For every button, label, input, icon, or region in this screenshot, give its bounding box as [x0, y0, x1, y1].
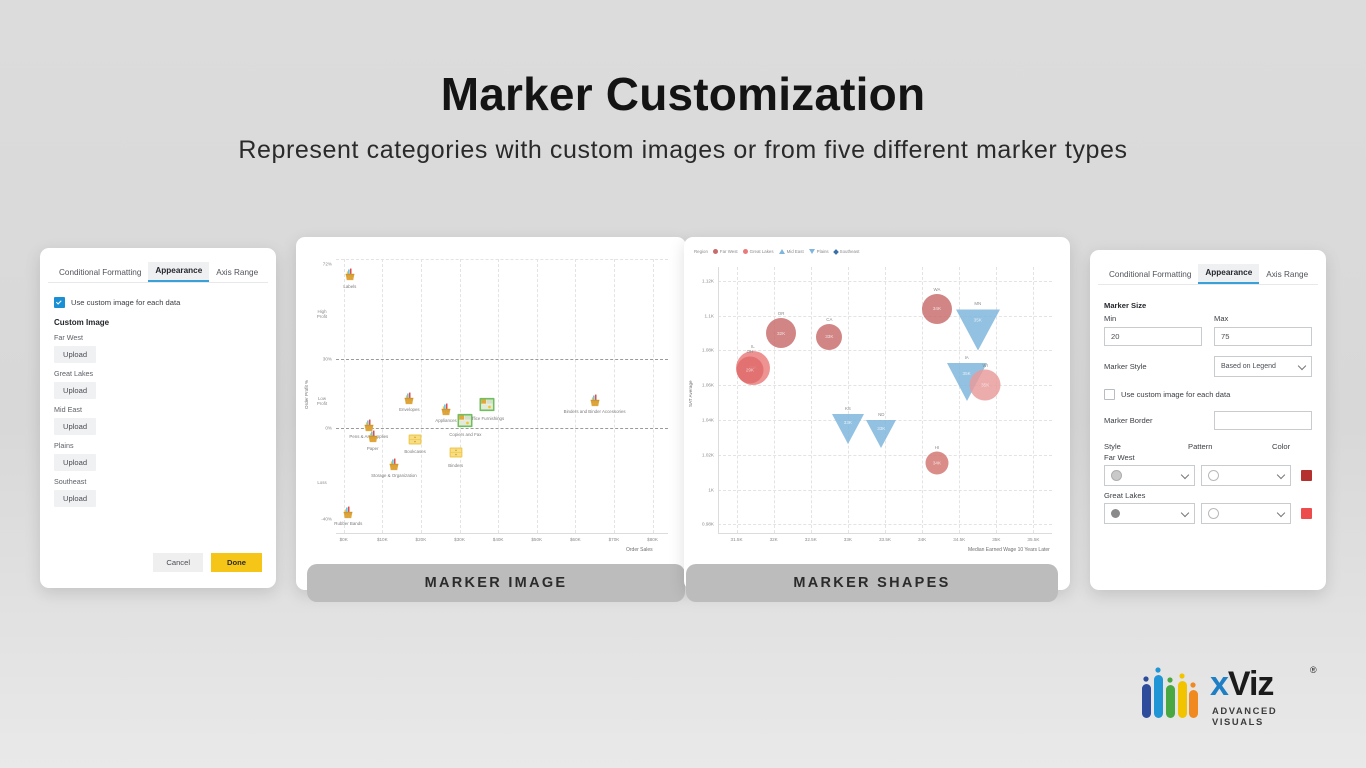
data-point-label: Bookcases	[404, 449, 425, 454]
data-point-label: KS	[845, 406, 851, 411]
legend-item[interactable]: Mid East	[779, 249, 804, 254]
page-header: Marker Customization Represent categorie…	[0, 70, 1366, 165]
x-axis-title: Median Earned Wage 10 Years Later	[968, 547, 1050, 553]
marker-style-value: Based on Legend	[1221, 363, 1276, 370]
max-label: Max	[1214, 314, 1312, 323]
x-tick-label: $30K	[454, 537, 465, 542]
y-tick-label: 1.08K	[692, 348, 714, 353]
gridline-vertical	[382, 259, 383, 533]
logo-bars-icon	[1138, 663, 1200, 725]
upload-row-mid-east: Mid East Upload	[54, 405, 262, 435]
label-southeast: Southeast	[54, 477, 262, 486]
upload-button-mid-east[interactable]: Upload	[54, 418, 96, 435]
legend-item[interactable]: Southeast	[834, 249, 860, 254]
gridline-vertical	[811, 267, 812, 533]
x-tick-label: $80K	[647, 537, 658, 542]
upload-row-southeast: Southeast Upload	[54, 477, 262, 507]
col-header-style: Style	[1104, 442, 1188, 451]
gridline-vertical	[537, 259, 538, 533]
data-marker[interactable]: 33K	[866, 420, 896, 448]
marker-image-settings-panel: Conditional Formatting Appearance Axis R…	[40, 248, 276, 588]
pattern-select-far-west[interactable]	[1201, 465, 1292, 486]
label-plains: Plains	[54, 441, 262, 450]
data-point-label: HI	[935, 445, 939, 450]
gridline-horizontal	[718, 524, 1052, 525]
style-row-controls-far-west	[1104, 465, 1312, 486]
left-panel-tabs: Conditional Formatting Appearance Axis R…	[40, 248, 276, 282]
marker-shapes-settings-panel: Conditional Formatting Appearance Axis R…	[1090, 250, 1326, 590]
label-far-west: Far West	[54, 333, 262, 342]
data-marker[interactable]: 32K	[766, 318, 796, 348]
legend-label: Great Lakes	[750, 249, 774, 254]
upload-button-great-lakes[interactable]: Upload	[54, 382, 96, 399]
label-great-lakes: Great Lakes	[54, 369, 262, 378]
y-axis-title: Order Profit %	[304, 380, 309, 409]
y-tick-label: 1.12K	[692, 278, 714, 283]
gridline-vertical	[653, 259, 654, 533]
marker-style-label: Marker Style	[1104, 362, 1202, 371]
y-tick-label: 72%	[312, 261, 332, 266]
zone-label: LowProfit	[310, 396, 334, 407]
chevron-down-icon	[1277, 471, 1285, 479]
x-tick-label: 32.5K	[805, 537, 817, 542]
gridline-vertical	[614, 259, 615, 533]
marker-style-row: Marker Style Based on Legend	[1104, 356, 1312, 377]
marker-border-input-wrap	[1214, 410, 1312, 430]
gridline-vertical	[498, 259, 499, 533]
x-tick-label: 34K	[918, 537, 926, 542]
y-tick-label: 0%	[312, 425, 332, 430]
gridline-horizontal	[718, 350, 1052, 351]
data-marker[interactable]: 34K	[922, 294, 952, 324]
y-tick-label: 1.1K	[692, 313, 714, 318]
marker-style-label-wrap: Marker Style	[1104, 362, 1202, 371]
gridline-vertical	[460, 259, 461, 533]
gridline-vertical	[996, 267, 997, 533]
y-tick-label: 30%	[312, 357, 332, 362]
max-field-group: Max	[1214, 314, 1312, 346]
legend-title: Region	[694, 249, 708, 254]
outline-circle-icon	[1208, 470, 1219, 481]
data-point-label: OR	[778, 311, 785, 316]
label-mid-east: Mid East	[54, 405, 262, 414]
chevron-down-icon	[1277, 509, 1285, 517]
data-point-label: Copiers and Fax	[449, 432, 481, 437]
marker-border-input[interactable]	[1214, 411, 1312, 430]
tab-appearance-2[interactable]: Appearance	[1198, 264, 1259, 284]
marker-size-title: Marker Size	[1104, 301, 1312, 310]
data-marker[interactable]: 33K	[832, 414, 864, 444]
use-custom-image-checkbox-row-2[interactable]: Use custom image for each data	[1104, 389, 1312, 400]
style-select-great-lakes[interactable]	[1104, 503, 1195, 524]
gridline-vertical	[344, 259, 345, 533]
data-marker[interactable]: 35K	[956, 309, 1000, 350]
checkbox-icon[interactable]	[54, 297, 65, 308]
legend-item[interactable]: Far West	[713, 249, 738, 254]
x-tick-label: $50K	[531, 537, 542, 542]
marker-size-row: Min Max	[1104, 314, 1312, 346]
data-point-label: CA	[826, 317, 832, 322]
data-point-label: Labels	[343, 284, 356, 289]
use-custom-image-label: Use custom image for each data	[71, 298, 180, 307]
marker-shapes-plot: RegionFar WestGreat LakesMid EastPlainsS…	[684, 237, 1070, 590]
min-label: Min	[1104, 314, 1202, 323]
page-subtitle: Represent categories with custom images …	[0, 136, 1366, 165]
y-tick-label: 1.02K	[692, 452, 714, 457]
gridline-vertical	[774, 267, 775, 533]
x-tick-label: $60K	[570, 537, 581, 542]
gridline-vertical	[421, 259, 422, 533]
y-axis-title: SAT Average	[688, 380, 693, 407]
right-panel-body: Marker Size Min Max Marker Style Based o…	[1090, 285, 1326, 524]
data-marker[interactable]: 33K	[816, 324, 842, 350]
logo-viz: Viz	[1228, 665, 1274, 703]
axis-line-x	[336, 533, 668, 534]
x-axis-title: Order Sales	[626, 547, 653, 553]
x-tick-label: $70K	[609, 537, 620, 542]
cancel-button[interactable]: Cancel	[153, 553, 203, 572]
legend-label: Plains	[817, 249, 829, 254]
data-point-label: Appliances	[435, 418, 456, 423]
zone-label: Loss	[310, 480, 334, 486]
data-point-label: Storage & Organization	[371, 473, 417, 478]
gridline-horizontal	[718, 316, 1052, 317]
tab-appearance[interactable]: Appearance	[148, 262, 209, 282]
data-point-label: IA	[965, 355, 969, 360]
chevron-down-icon	[1180, 509, 1188, 517]
legend-label: Southeast	[840, 249, 860, 254]
outline-circle-icon	[1208, 508, 1219, 519]
data-point-label: Binders and Binder Accessories	[564, 409, 626, 414]
style-table-header: Style Pattern Color	[1104, 442, 1312, 451]
marker-style-select[interactable]: Based on Legend	[1214, 356, 1312, 377]
marker-image-chart-card: $0K$10K$20K$30K$40K$50K$60K$70K$80K72%30…	[296, 237, 686, 590]
gridline-vertical	[1033, 267, 1034, 533]
legend-item[interactable]: Great Lakes	[743, 249, 774, 254]
gridline-vertical	[737, 267, 738, 533]
legend-item[interactable]: Plains	[809, 249, 829, 254]
tab-conditional-formatting[interactable]: Conditional Formatting	[52, 264, 148, 282]
checkbox-icon-2[interactable]	[1104, 389, 1115, 400]
tab-axis-range[interactable]: Axis Range	[209, 264, 265, 282]
logo-wordmark: xViz	[1210, 665, 1273, 704]
x-tick-label: $40K	[493, 537, 504, 542]
logo-tagline: ADVANCED VISUALS	[1212, 705, 1328, 727]
use-custom-image-label-2: Use custom image for each data	[1121, 390, 1230, 399]
x-tick-label: 32K	[770, 537, 778, 542]
data-marker[interactable]: 34K	[925, 452, 948, 475]
custom-image-section-title: Custom Image	[54, 318, 262, 327]
color-swatch-far-west[interactable]	[1301, 470, 1312, 481]
upload-row-plains: Plains Upload	[54, 441, 262, 471]
chevron-down-icon	[1180, 471, 1188, 479]
y-tick-label: 0.98K	[692, 522, 714, 527]
data-point-label: OH	[747, 349, 754, 354]
filled-circle-icon	[1111, 470, 1122, 481]
upload-button-southeast[interactable]: Upload	[54, 490, 96, 507]
data-point-label: ND	[878, 412, 884, 417]
gridline-horizontal	[718, 385, 1052, 386]
chevron-down-icon	[1298, 362, 1306, 370]
marker-image-plot: $0K$10K$20K$30K$40K$50K$60K$70K$80K72%30…	[296, 237, 686, 590]
data-marker[interactable]: 29K	[736, 356, 763, 383]
style-select-far-west[interactable]	[1104, 465, 1195, 486]
data-point-label: WI	[983, 363, 988, 368]
gridline-horizontal	[718, 281, 1052, 282]
done-button[interactable]: Done	[211, 553, 262, 572]
legend-label: Far West	[720, 249, 738, 254]
style-row-label-far-west: Far West	[1104, 453, 1312, 462]
chart-legend: RegionFar WestGreat LakesMid EastPlainsS…	[694, 249, 859, 254]
x-tick-label: $0K	[340, 537, 348, 542]
col-header-color: Color	[1272, 442, 1312, 451]
tab-conditional-formatting-2[interactable]: Conditional Formatting	[1102, 266, 1198, 284]
gridline-horizontal	[718, 455, 1052, 456]
marker-border-label: Marker Border	[1104, 416, 1202, 425]
x-tick-label: 33K	[844, 537, 852, 542]
legend-label: Mid East	[787, 249, 804, 254]
xviz-logo: xViz ® ADVANCED VISUALS	[1138, 663, 1328, 727]
axis-line-y	[718, 267, 719, 533]
max-input[interactable]	[1214, 327, 1312, 346]
gridline-horizontal	[336, 259, 668, 260]
data-point-label: WA	[933, 287, 940, 292]
data-point-label: Paper	[367, 446, 379, 451]
page-title: Marker Customization	[0, 70, 1366, 118]
reference-line	[336, 428, 668, 429]
left-panel-footer: Cancel Done	[153, 553, 262, 572]
x-tick-label: 31.5K	[731, 537, 743, 542]
y-tick-label: 1.04K	[692, 417, 714, 422]
left-panel-body: Use custom image for each data Custom Im…	[40, 283, 276, 507]
upload-row-far-west: Far West Upload	[54, 333, 262, 363]
right-panel-tabs: Conditional Formatting Appearance Axis R…	[1090, 250, 1326, 284]
logo-x: x	[1210, 665, 1228, 703]
marker-shapes-chart-card: RegionFar WestGreat LakesMid EastPlainsS…	[684, 237, 1070, 590]
use-custom-image-checkbox-row[interactable]: Use custom image for each data	[54, 297, 262, 308]
upload-button-far-west[interactable]: Upload	[54, 346, 96, 363]
filled-circle-icon	[1111, 509, 1120, 518]
min-field-group: Min	[1104, 314, 1202, 346]
tab-axis-range-2[interactable]: Axis Range	[1259, 266, 1315, 284]
banner-marker-shapes: MARKER SHAPES	[686, 564, 1058, 602]
banner-marker-image: MARKER IMAGE	[307, 564, 685, 602]
col-header-pattern: Pattern	[1188, 442, 1272, 451]
x-tick-label: 35K	[992, 537, 1000, 542]
y-tick-label: 1.06K	[692, 383, 714, 388]
style-row-far-west: Far West	[1104, 453, 1312, 486]
y-tick-label: 1K	[692, 487, 714, 492]
x-tick-label: 35.5K	[1027, 537, 1039, 542]
data-point-label: Binders	[448, 463, 463, 468]
gridline-horizontal	[718, 490, 1052, 491]
y-tick-label: -40%	[312, 517, 332, 522]
reference-line	[336, 359, 668, 360]
min-input[interactable]	[1104, 327, 1202, 346]
gridline-vertical	[885, 267, 886, 533]
x-tick-label: 33.5K	[879, 537, 891, 542]
gridline-vertical	[848, 267, 849, 533]
marker-border-row: Marker Border	[1104, 410, 1312, 430]
x-tick-label: $10K	[377, 537, 388, 542]
x-tick-label: $20K	[416, 537, 427, 542]
registered-mark: ®	[1310, 665, 1317, 675]
marker-style-select-wrap: Based on Legend	[1214, 356, 1312, 377]
gridline-vertical	[575, 259, 576, 533]
data-marker[interactable]: 35K	[970, 370, 1001, 401]
color-swatch-great-lakes[interactable]	[1301, 508, 1312, 519]
style-row-controls-great-lakes	[1104, 503, 1312, 524]
x-tick-label: 34.5K	[953, 537, 965, 542]
marker-border-label-wrap: Marker Border	[1104, 416, 1202, 425]
data-point-label: Rubber Bands	[334, 521, 362, 526]
upload-row-great-lakes: Great Lakes Upload	[54, 369, 262, 399]
data-point-label: MN	[974, 301, 981, 306]
data-point-label: Envelopes	[399, 407, 420, 412]
pattern-select-great-lakes[interactable]	[1201, 503, 1292, 524]
axis-line-x	[718, 533, 1052, 534]
upload-button-plains[interactable]: Upload	[54, 454, 96, 471]
zone-label: HighProfit	[310, 309, 334, 320]
style-row-label-great-lakes: Great Lakes	[1104, 491, 1312, 500]
style-row-great-lakes: Great Lakes	[1104, 491, 1312, 524]
